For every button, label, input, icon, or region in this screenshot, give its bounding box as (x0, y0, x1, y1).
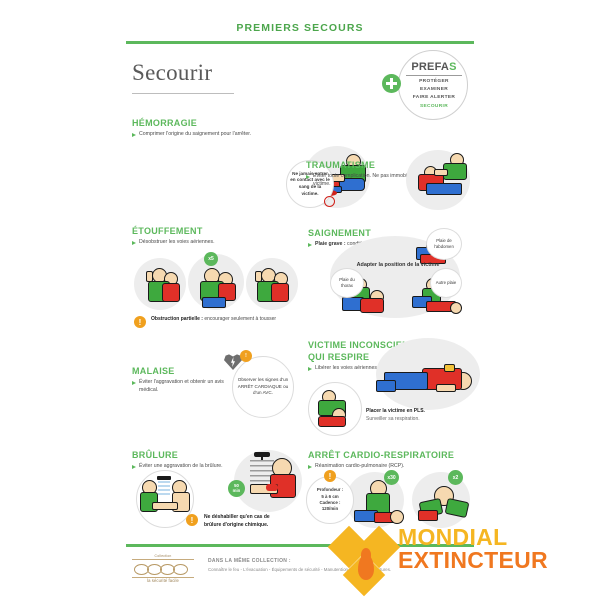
collection-rule-top (132, 559, 194, 560)
figure-pls-small (314, 388, 358, 430)
section-title-acr: ARRÊT CARDIO-RESPIRATOIRE (308, 450, 478, 460)
rescuer-hand (146, 271, 153, 282)
warning-bold-etouffement: Obstruction partielle : (151, 316, 203, 322)
victim-torso (360, 298, 384, 313)
figure-acr-insufflations (418, 478, 468, 526)
warning-badge-acr: ! (324, 470, 336, 482)
prefas-step-examiner: EXAMINER (402, 86, 466, 94)
victim-head-2 (450, 302, 462, 314)
warning-badge-malaise: ! (240, 350, 252, 362)
label-plaie-abdomen: Plaie de l'abdomen (426, 228, 462, 260)
saignement-subtitle-bold: Plaie grave : (315, 241, 346, 247)
note-pls-bold: Placer la victime en PLS. (366, 408, 425, 414)
water-stream (158, 481, 170, 497)
footer-text: DANS LA MÊME COLLECTION : Connaître le f… (208, 558, 391, 572)
medical-cross-icon (382, 74, 401, 93)
acr-rate-value: 120/min (317, 506, 343, 512)
badge-acr-compressions: x30 (384, 470, 399, 485)
victim-torso (318, 416, 346, 427)
callout-acr: Profondeur : 5 à 6 cm Cadence : 120/min (306, 476, 354, 524)
warning-text-etouffement: Obstruction partielle : encourager seule… (151, 316, 301, 324)
figure-acr-compressions (352, 478, 402, 526)
victim-shoulder (444, 364, 455, 372)
collection-rule-bottom (132, 577, 194, 578)
caption-adapter-position: Adapter la position de la victime (354, 262, 442, 270)
collection-caption: Collection (132, 554, 194, 558)
warning-rest-brulure: brûlure d'origine chimique. (204, 522, 268, 528)
prefas-wordmark: PREFAS (403, 61, 465, 73)
footer-line-2: Connaître le feu - L'évacuation - Équipe… (208, 567, 391, 572)
prefas-word-main: PREFA (411, 61, 449, 73)
warning-bold-brulure: Ne déshabiller qu'en cas de (204, 514, 270, 520)
victim-torso (271, 283, 289, 302)
footer-line-1: DANS LA MÊME COLLECTION : (208, 558, 391, 564)
figure-etouffement-1 (142, 264, 184, 308)
prefas-word-accent: S (449, 61, 457, 73)
prefas-divider (406, 75, 462, 76)
section-etouffement: ÉTOUFFEMENT Désobstruer les voies aérien… (132, 226, 302, 247)
burn-mark (266, 484, 278, 491)
rescuer-arm (434, 169, 448, 176)
victim-head (390, 510, 404, 524)
victim-arm (436, 384, 456, 392)
prefas-badge: PREFAS PROTÉGER EXAMINER FAIRE ALERTER S… (382, 50, 468, 118)
rescuer-hand (255, 271, 262, 282)
warning-text-brulure: Ne déshabiller qu'en cas de brûlure d'or… (204, 514, 324, 529)
figure-brulure-2 (238, 452, 302, 510)
section-title-hemorragie: HÉMORRAGIE (132, 118, 302, 128)
rescuer-legs (202, 297, 226, 308)
section-subtitle-hemorragie: Comprimer l'origine du saignement pour l… (132, 131, 302, 139)
badge-brulure-unit: min (233, 489, 241, 493)
label-plaie-thorax: Plaie du thorax (330, 268, 364, 298)
figure-pls-large (370, 360, 476, 404)
prefas-steps: PROTÉGER EXAMINER FAIRE ALERTER SECOURIR (402, 78, 466, 112)
prefas-step-proteger: PROTÉGER (402, 78, 466, 86)
faucet-icon (157, 476, 171, 480)
rescuer-arm-right (445, 498, 470, 518)
no-contact-icon (324, 196, 335, 207)
label-autre-plaie: Autre plaie (430, 268, 462, 298)
section-acr: ARRÊT CARDIO-RESPIRATOIRE Réanimation ca… (308, 450, 478, 471)
poster: PREMIERS SECOURS Secourir PREFAS PROTÉGE… (118, 0, 482, 600)
badge-brulure-duration: 50 min (228, 480, 245, 497)
section-subtitle-etouffement: Désobstruer les voies aériennes. (132, 239, 302, 247)
warning-icon-etouffement: ! (134, 316, 146, 328)
top-block: Secourir PREFAS PROTÉGER EXAMINER FAIRE … (118, 44, 482, 118)
prefas-step-secourir: SECOURIR (402, 103, 466, 111)
figure-traumatisme (410, 152, 470, 208)
collection-name: la sécurité facile (132, 578, 194, 583)
warning-icon-brulure: ! (186, 514, 198, 526)
figure-etouffement-2 (196, 262, 242, 310)
chain-icon (132, 561, 194, 576)
victim-torso (162, 283, 180, 302)
figure-brulure-1 (140, 474, 192, 524)
section-title-etouffement: ÉTOUFFEMENT (132, 226, 302, 236)
prefas-step-faire-alerter: FAIRE ALERTER (402, 94, 466, 102)
note-pls: Placer la victime en PLS. Surveiller sa … (366, 408, 476, 423)
warning-rest-etouffement: encourager seulement à tousser (203, 316, 276, 322)
poster-header-title: PREMIERS SECOURS (118, 0, 482, 34)
victim-foot (376, 380, 396, 392)
footer-divider (126, 544, 474, 547)
badge-acr-insufflations: x2 (448, 470, 463, 485)
page-title-underline (132, 93, 234, 95)
section-hemorragie: HÉMORRAGIE Comprimer l'origine du saigne… (132, 118, 302, 139)
section-subtitle-malaise: Éviter l'aggravation et obtenir un avis … (132, 379, 242, 395)
hands (152, 502, 178, 510)
victim-legs (426, 183, 462, 195)
victim-body (418, 510, 438, 521)
figure-etouffement-3 (252, 264, 294, 308)
collection-logo: Collection la sécurité facile (132, 554, 194, 583)
page-title: Secourir (132, 60, 212, 86)
note-pls-rest: Surveiller sa respiration. (366, 416, 420, 422)
acr-depth-label: Profondeur : (317, 487, 343, 493)
